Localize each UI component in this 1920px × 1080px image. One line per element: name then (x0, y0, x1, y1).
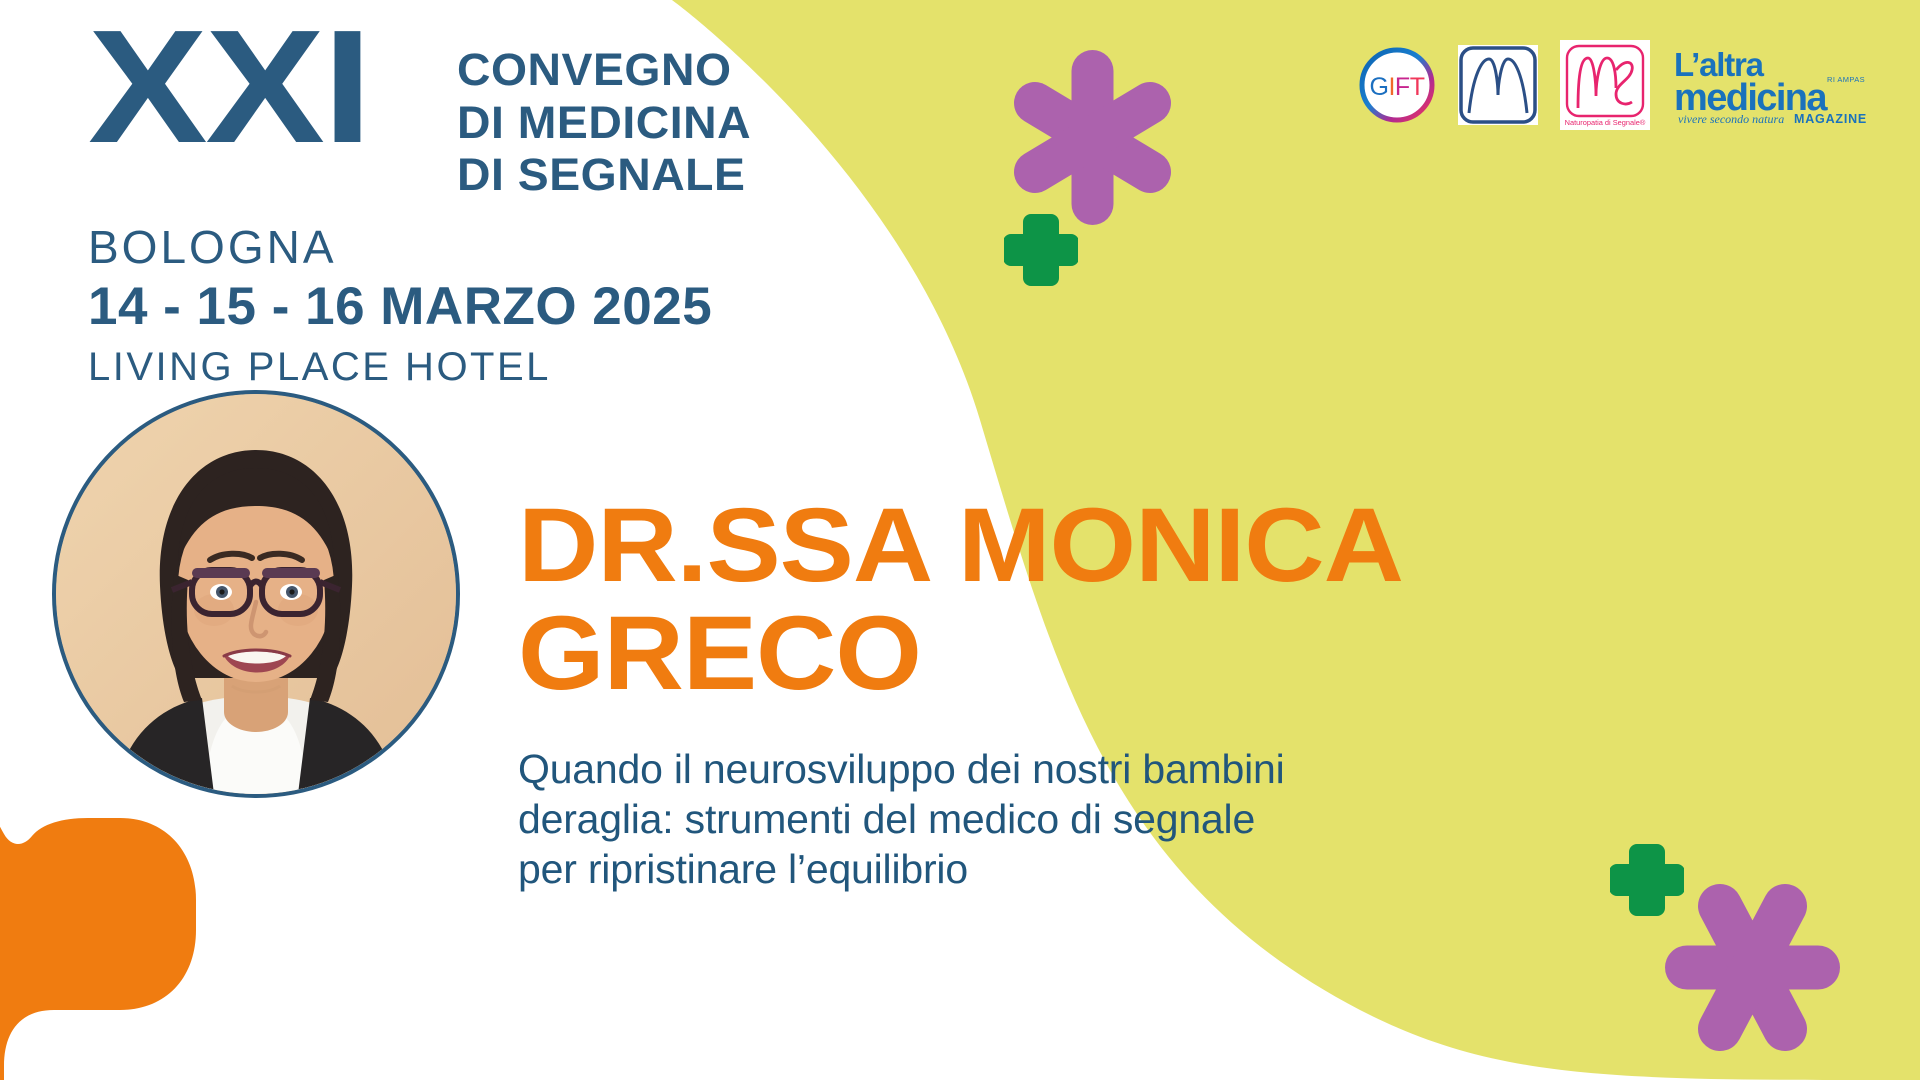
orange-blob-shape (0, 760, 230, 1080)
svg-text:GIFT: GIFT (1370, 73, 1425, 101)
cross-top-icon (1004, 210, 1078, 290)
laltra-medicina-logo-icon: L’altra medicina RI AMPAS vivere secondo… (1672, 42, 1872, 128)
svg-text:vivere secondo natura: vivere secondo natura (1678, 112, 1784, 126)
speaker-avatar (52, 390, 460, 798)
naturopatia-logo-caption: Naturopatia di Segnale® (1565, 118, 1646, 127)
event-header: XXI CONVEGNO DI MEDICINA DI SEGNALE BOLO… (88, 18, 743, 387)
asterisk-top-icon (1005, 45, 1180, 230)
event-dates: 14 - 15 - 16 MARZO 2025 (88, 280, 743, 333)
event-city: BOLOGNA (88, 224, 743, 270)
gift-logo-icon: GIFT (1358, 46, 1436, 124)
svg-text:MAGAZINE: MAGAZINE (1794, 112, 1867, 126)
svg-text:RI AMPAS: RI AMPAS (1827, 75, 1865, 84)
asterisk-bottom-icon (1660, 875, 1845, 1060)
wave-box-logo-icon (1458, 45, 1538, 125)
naturopatia-di-segnale-logo[interactable]: Naturopatia di Segnale® (1560, 40, 1650, 130)
speaker-block: DR.SSA MONICA GRECO Quando il neurosvilu… (518, 492, 1848, 894)
talk-title: Quando il neurosviluppo dei nostri bambi… (518, 744, 1848, 894)
speaker-portrait-illustration (56, 394, 456, 794)
sponsor-logo-row: GIFT Naturopatia di Segnale® L’ (1358, 40, 1872, 130)
event-header-top-row: XXI CONVEGNO DI MEDICINA DI SEGNALE (88, 18, 743, 202)
gift-logo[interactable]: GIFT (1358, 46, 1436, 124)
naturopatia-di-segnale-logo-icon: Naturopatia di Segnale® (1560, 40, 1650, 130)
event-title: CONVEGNO DI MEDICINA DI SEGNALE (457, 44, 751, 202)
wave-box-logo[interactable] (1458, 45, 1538, 125)
laltra-medicina-logo[interactable]: L’altra medicina RI AMPAS vivere secondo… (1672, 42, 1872, 128)
edition-number: XXI (88, 18, 370, 157)
event-venue: LIVING PLACE HOTEL (88, 347, 743, 387)
conference-speaker-poster: XXI CONVEGNO DI MEDICINA DI SEGNALE BOLO… (0, 0, 1920, 1080)
speaker-name: DR.SSA MONICA GRECO (518, 492, 1920, 708)
